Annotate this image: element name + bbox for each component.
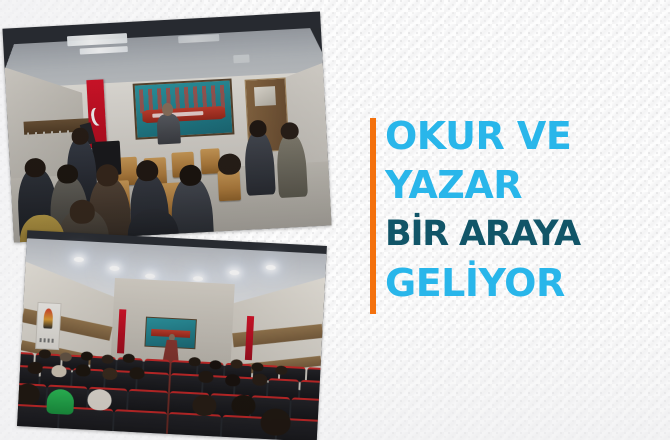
- door-window: [254, 86, 275, 105]
- person-head: [198, 371, 214, 384]
- person-head: [17, 383, 40, 406]
- person-head: [188, 357, 200, 367]
- headline-line-4: GELİYOR: [385, 259, 662, 308]
- person-head: [57, 164, 79, 184]
- person-head: [123, 353, 135, 363]
- photo-top-classroom[interactable]: [2, 12, 331, 243]
- person-head: [192, 394, 217, 417]
- auditorium-scene: [17, 230, 327, 440]
- person-head: [60, 352, 72, 362]
- wall-poster: [35, 301, 61, 349]
- person-head: [251, 362, 263, 372]
- welcome-banner: [133, 79, 234, 140]
- poster-canvas: OKUR VE YAZAR BİR ARAYA GELİYOR: [0, 0, 670, 440]
- person-head: [102, 368, 118, 381]
- person-head: [27, 362, 43, 375]
- person-head: [101, 354, 113, 364]
- person-head: [51, 365, 67, 378]
- person-head-green-scarf: [46, 388, 74, 415]
- person-head: [75, 364, 91, 377]
- orange-accent-bar: [370, 118, 376, 314]
- ceiling-spotlight: [266, 264, 276, 270]
- headline-line-1: OKUR VE: [385, 112, 662, 161]
- person-head: [25, 157, 47, 177]
- classroom-scene: [2, 12, 331, 243]
- person-head: [129, 367, 145, 380]
- speaker-person: [157, 113, 181, 144]
- chair: [200, 148, 220, 175]
- headline-line-2: YAZAR: [385, 161, 662, 210]
- person-head: [69, 199, 96, 224]
- photo-bottom-auditorium[interactable]: [17, 230, 327, 440]
- person-head: [81, 351, 93, 361]
- person-head: [209, 360, 221, 370]
- person-head: [275, 365, 287, 375]
- headline-lines: OKUR VE YAZAR BİR ARAYA GELİYOR: [385, 112, 662, 308]
- ceiling-vent: [233, 54, 249, 63]
- ceiling-spotlight: [74, 256, 84, 262]
- person-head: [87, 389, 112, 412]
- person-head: [231, 394, 256, 417]
- headline-block: OKUR VE YAZAR BİR ARAYA GELİYOR: [370, 112, 662, 308]
- person-head: [39, 349, 51, 359]
- person-head: [225, 374, 241, 387]
- person-head: [230, 359, 242, 369]
- person-head: [252, 374, 268, 387]
- headline-line-3: BİR ARAYA: [385, 210, 662, 259]
